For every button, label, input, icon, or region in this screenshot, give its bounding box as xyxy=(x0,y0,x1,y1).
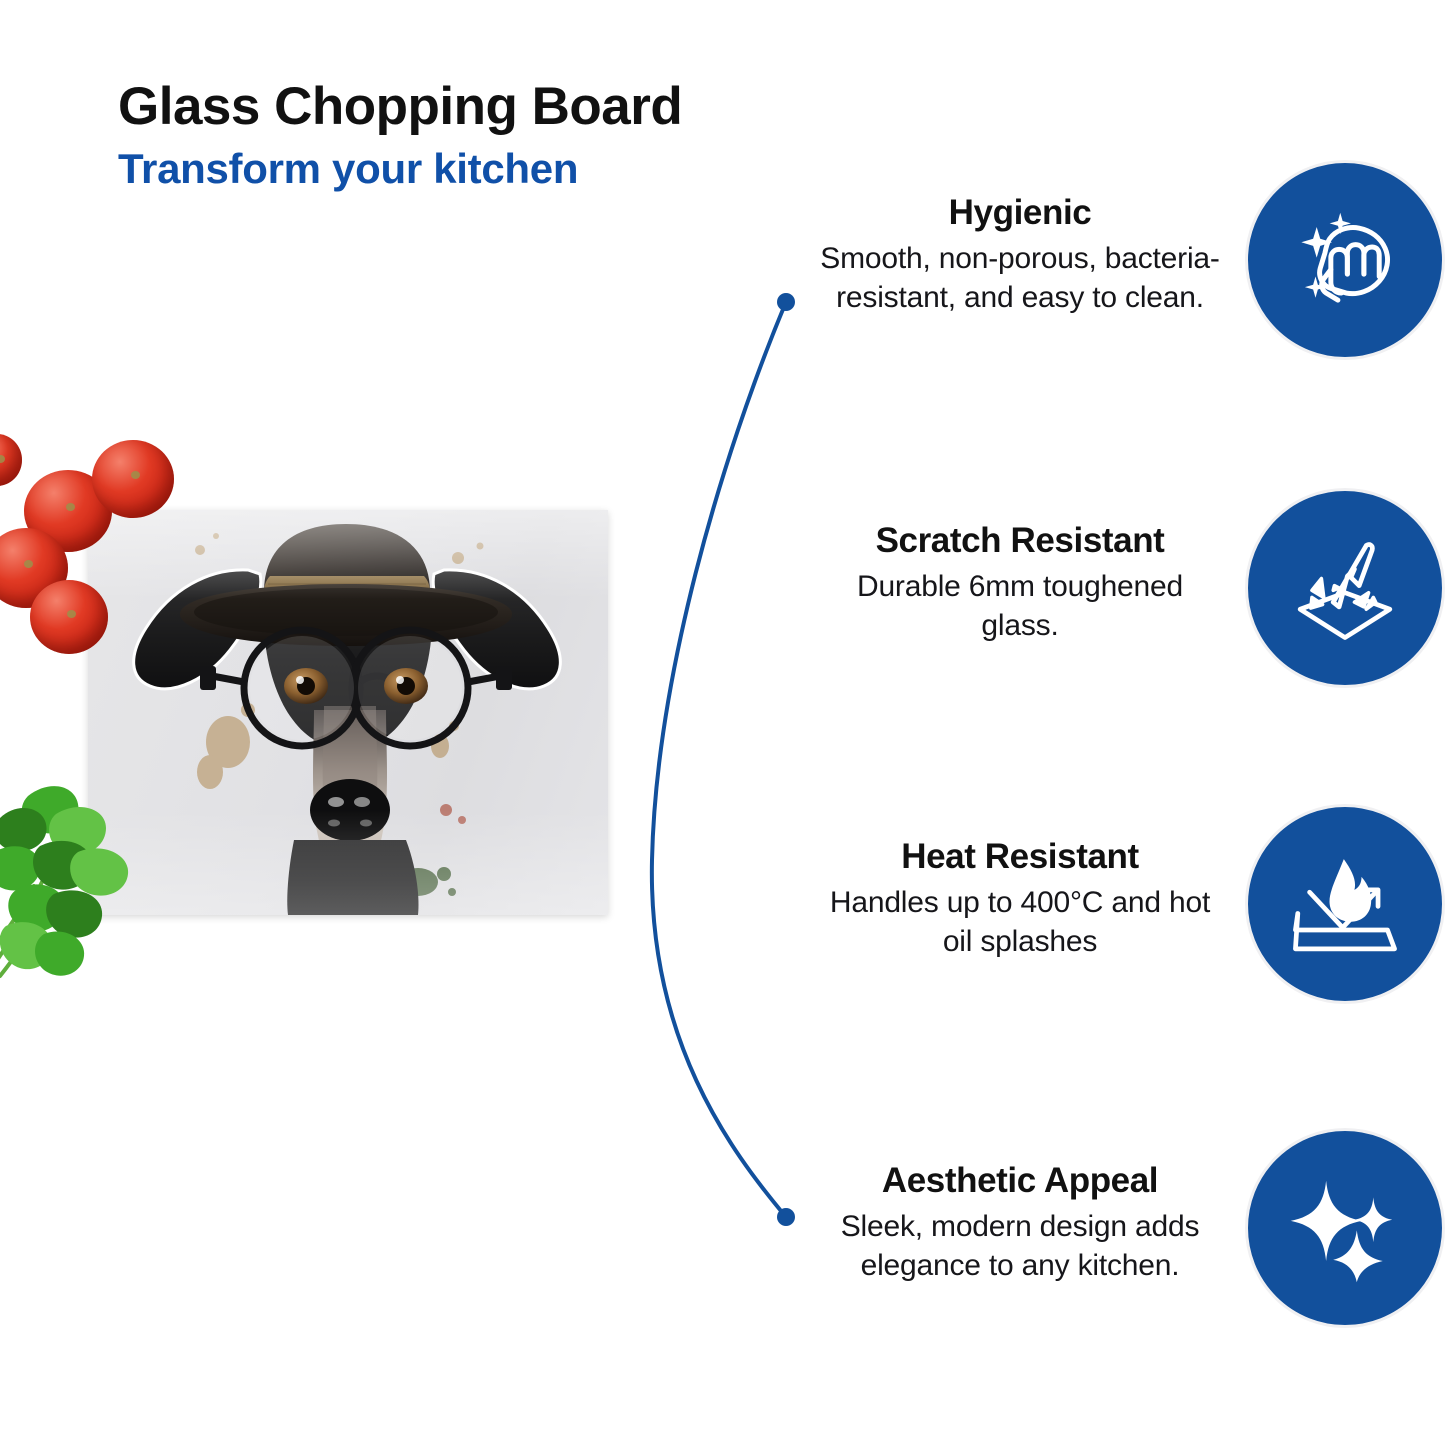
cherry-tomato xyxy=(30,580,108,654)
feature-heat-resistant: Heat Resistant Handles up to 400°C and h… xyxy=(760,786,1420,1104)
feature-description: Handles up to 400°C and hot oil splashes xyxy=(820,883,1220,961)
feature-title: Aesthetic Appeal xyxy=(820,1160,1220,1201)
tomato-stem xyxy=(67,610,76,618)
feature-aesthetic-appeal: Aesthetic Appeal Sleek, modern design ad… xyxy=(760,1104,1420,1422)
hand-wipe-sparkle-glyph xyxy=(1286,201,1404,319)
dog-artwork xyxy=(88,510,608,915)
feature-text: Heat Resistant Handles up to 400°C and h… xyxy=(820,836,1220,961)
feature-text: Hygienic Smooth, non-porous, bacteria-re… xyxy=(820,192,1220,317)
cherry-tomato xyxy=(0,434,22,486)
parsley-bunch xyxy=(0,770,152,985)
knife-scratch-glyph xyxy=(1286,529,1404,647)
page-title: Glass Chopping Board xyxy=(118,78,878,135)
feature-list: Hygienic Smooth, non-porous, bacteria-re… xyxy=(760,150,1420,1422)
cherry-tomato xyxy=(92,440,174,518)
tomato-stem xyxy=(24,560,33,568)
tomato-stem xyxy=(0,455,5,463)
parsley-svg xyxy=(0,770,152,985)
product-scene xyxy=(0,440,660,1000)
feature-hygienic: Hygienic Smooth, non-porous, bacteria-re… xyxy=(760,150,1420,468)
feature-title: Heat Resistant xyxy=(820,836,1220,877)
feature-scratch-resistant: Scratch Resistant Durable 6mm toughened … xyxy=(760,468,1420,786)
feature-description: Durable 6mm toughened glass. xyxy=(820,567,1220,645)
tomato-stem xyxy=(131,471,140,479)
feature-text: Scratch Resistant Durable 6mm toughened … xyxy=(820,520,1220,645)
sparkles-glyph xyxy=(1286,1169,1404,1287)
feature-text: Aesthetic Appeal Sleek, modern design ad… xyxy=(820,1160,1220,1285)
feature-description: Sleek, modern design adds elegance to an… xyxy=(820,1207,1220,1285)
feature-title: Hygienic xyxy=(820,192,1220,233)
tomato-stem xyxy=(66,503,75,511)
sparkles-icon xyxy=(1245,1128,1445,1328)
glass-chopping-board xyxy=(88,510,608,915)
knife-scratch-surface-icon xyxy=(1245,488,1445,688)
hand-wipe-sparkle-icon xyxy=(1245,160,1445,360)
feature-title: Scratch Resistant xyxy=(820,520,1220,561)
flame-deflect-glyph xyxy=(1286,845,1404,963)
feature-description: Smooth, non-porous, bacteria-resistant, … xyxy=(820,239,1220,317)
flame-deflect-surface-icon xyxy=(1245,804,1445,1004)
